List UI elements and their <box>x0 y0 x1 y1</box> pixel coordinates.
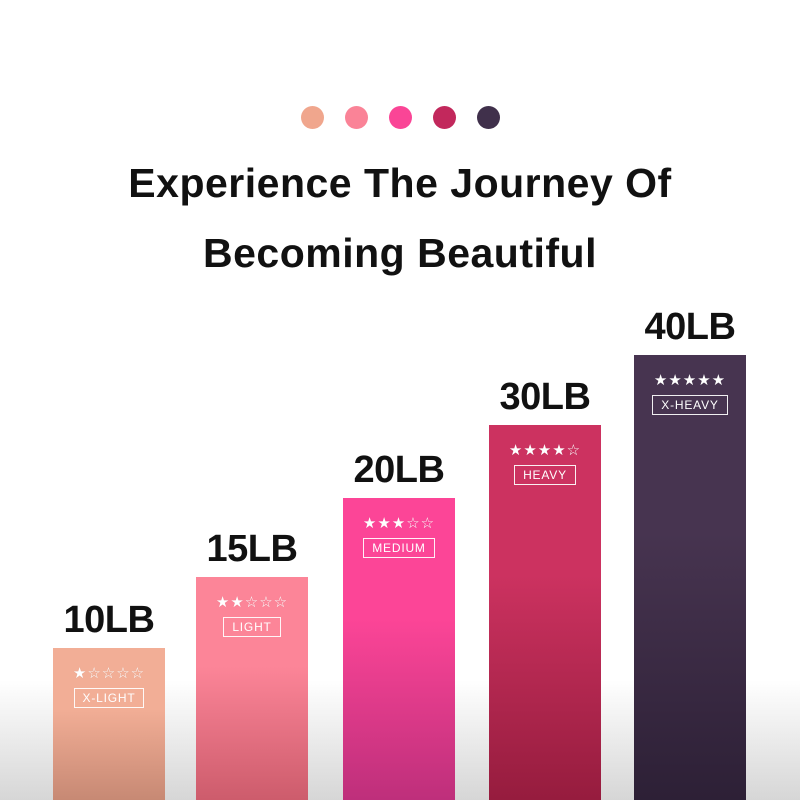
dot-light <box>345 106 368 129</box>
dot-x-light <box>301 106 324 129</box>
bar-badge-group: ★★☆☆☆LIGHT <box>196 595 308 637</box>
bar-40lb[interactable]: 40LB★★★★★X-HEAVY <box>634 355 746 800</box>
promo-graphic: Experience The Journey Of Becoming Beaut… <box>0 0 800 800</box>
star-rating-icon: ★☆☆☆☆ <box>73 666 145 681</box>
dot-medium <box>389 106 412 129</box>
bar-badge-group: ★☆☆☆☆X-LIGHT <box>53 666 165 708</box>
color-swatch-row <box>0 106 800 129</box>
page-title: Experience The Journey Of Becoming Beaut… <box>0 148 800 288</box>
bar-fill: ★★★☆☆MEDIUM <box>343 498 455 800</box>
resistance-level-badge: MEDIUM <box>363 538 434 558</box>
bar-20lb[interactable]: 20LB★★★☆☆MEDIUM <box>343 498 455 800</box>
bar-value-label: 10LB <box>64 599 155 642</box>
bar-badge-group: ★★★★☆HEAVY <box>489 443 601 485</box>
bar-10lb[interactable]: 10LB★☆☆☆☆X-LIGHT <box>53 648 165 800</box>
bar-30lb[interactable]: 30LB★★★★☆HEAVY <box>489 425 601 800</box>
bar-value-label: 20LB <box>354 449 445 492</box>
bar-fill: ★☆☆☆☆X-LIGHT <box>53 648 165 800</box>
bar-badge-group: ★★★☆☆MEDIUM <box>343 516 455 558</box>
bar-fill: ★★☆☆☆LIGHT <box>196 577 308 800</box>
bar-value-label: 30LB <box>500 376 591 419</box>
resistance-level-badge: X-HEAVY <box>652 395 727 415</box>
bar-value-label: 15LB <box>207 528 298 571</box>
bar-badge-group: ★★★★★X-HEAVY <box>634 373 746 415</box>
bar-fill: ★★★★★X-HEAVY <box>634 355 746 800</box>
star-rating-icon: ★★☆☆☆ <box>216 595 288 610</box>
star-rating-icon: ★★★☆☆ <box>363 516 435 531</box>
bar-value-label: 40LB <box>645 306 736 349</box>
dot-heavy <box>433 106 456 129</box>
dot-x-heavy <box>477 106 500 129</box>
resistance-level-badge: HEAVY <box>514 465 576 485</box>
resistance-level-badge: LIGHT <box>223 617 280 637</box>
star-rating-icon: ★★★★☆ <box>509 443 581 458</box>
bar-fill: ★★★★☆HEAVY <box>489 425 601 800</box>
star-rating-icon: ★★★★★ <box>654 373 726 388</box>
resistance-level-badge: X-LIGHT <box>74 688 145 708</box>
page-title-line-2: Becoming Beautiful <box>0 218 800 288</box>
page-title-line-1: Experience The Journey Of <box>0 148 800 218</box>
bar-15lb[interactable]: 15LB★★☆☆☆LIGHT <box>196 577 308 800</box>
